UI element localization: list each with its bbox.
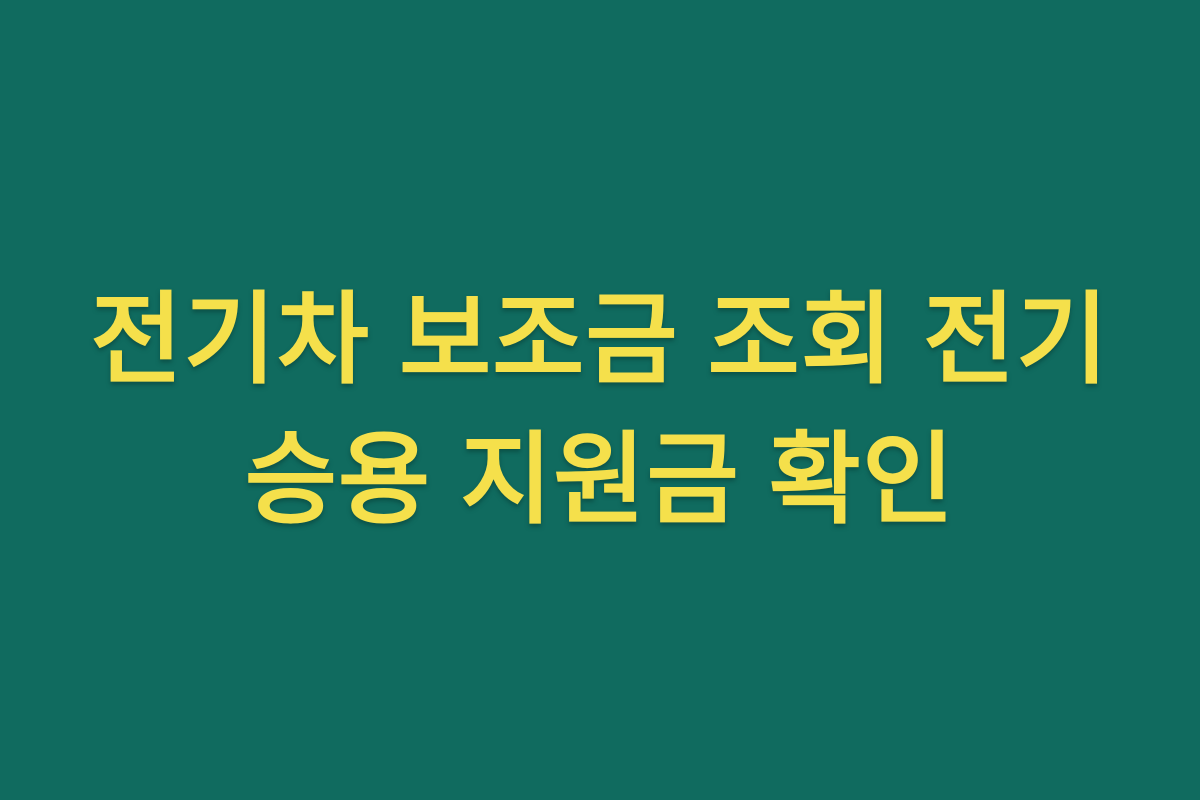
headline-block: 전기차 보조금 조회 전기 승용 지원금 확인 xyxy=(0,270,1200,550)
headline-line-1: 전기차 보조금 조회 전기 xyxy=(40,270,1160,410)
headline-line-2: 승용 지원금 확인 xyxy=(40,410,1160,550)
thumbnail-canvas: 전기차 보조금 조회 전기 승용 지원금 확인 xyxy=(0,0,1200,800)
